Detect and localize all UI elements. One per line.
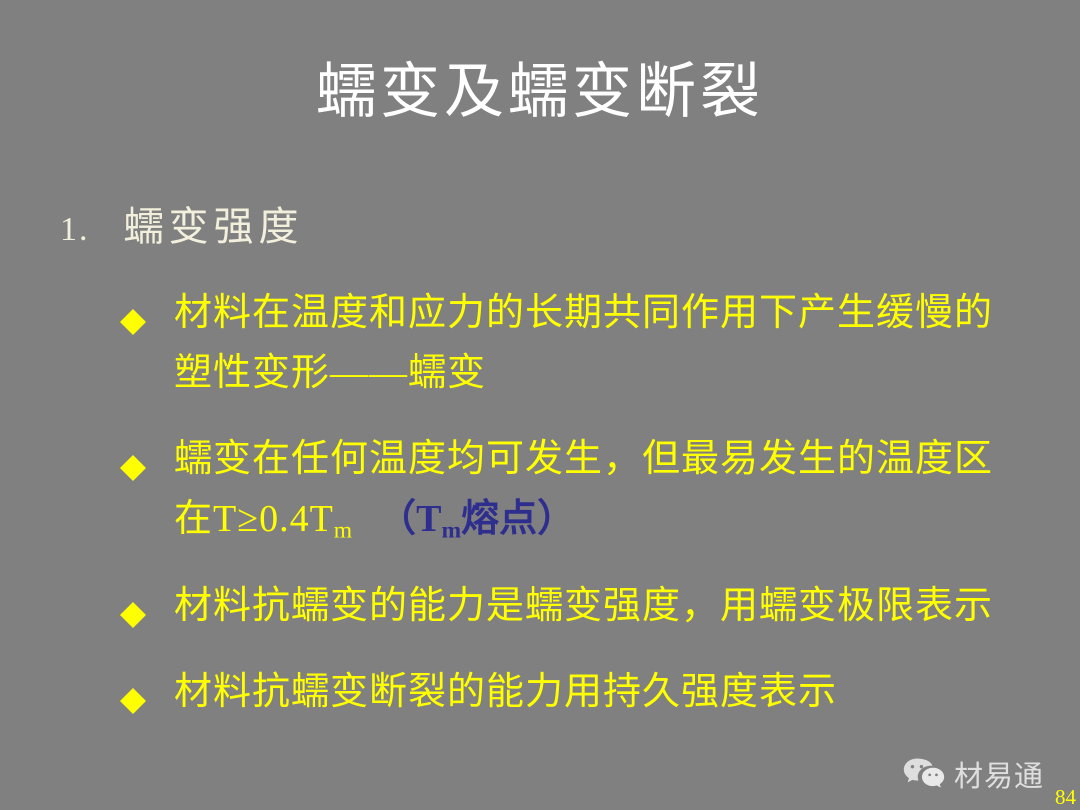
list-item-text-main: 蠕变在任何温度均可发生，但最易发生的温度区在T≥0.4T [174,438,993,540]
page-number: 84 [1055,787,1076,808]
bullet-list: 材料在温度和应力的长期共同作用下产生缓慢的塑性变形——蠕变 蠕变在任何温度均可发… [120,283,1020,722]
diamond-bullet-icon [120,442,146,468]
wechat-icon [902,756,946,790]
diamond-bullet-icon [120,589,146,615]
section-heading-label: 蠕变强度 [124,205,304,249]
note-close-text: 熔点） [461,498,575,540]
melting-point-note: （Tm熔点） [378,498,575,540]
watermark-label: 材易通 [954,763,1044,792]
note-subscript-m: m [441,518,461,544]
watermark: 材易通 [902,756,1044,792]
note-open-paren: （T [378,498,441,540]
list-item-text: 蠕变在任何温度均可发生，但最易发生的温度区在T≥0.4Tm（Tm熔点） [174,429,1004,550]
diamond-bullet-icon [120,296,146,322]
list-item-text: 材料在温度和应力的长期共同作用下产生缓慢的塑性变形——蠕变 [174,283,1004,403]
list-item-text: 材料抗蠕变的能力是蠕变强度，用蠕变极限表示 [174,576,1004,636]
diamond-bullet-icon [120,675,146,701]
section-number: 1. [60,211,90,248]
list-item: 材料抗蠕变的能力是蠕变强度，用蠕变极限表示 [120,576,1020,636]
subscript-m: m [334,518,352,544]
slide-canvas: 蠕变及蠕变断裂 1. 蠕变强度 材料在温度和应力的长期共同作用下产生缓慢的塑性变… [0,0,1080,810]
list-item: 蠕变在任何温度均可发生，但最易发生的温度区在T≥0.4Tm（Tm熔点） [120,429,1020,550]
section-heading: 1. 蠕变强度 [60,205,304,249]
list-item-text: 材料抗蠕变断裂的能力用持久强度表示 [174,662,1004,722]
page-title: 蠕变及蠕变断裂 [0,58,1080,127]
list-item: 材料抗蠕变断裂的能力用持久强度表示 [120,662,1020,722]
list-item: 材料在温度和应力的长期共同作用下产生缓慢的塑性变形——蠕变 [120,283,1020,403]
